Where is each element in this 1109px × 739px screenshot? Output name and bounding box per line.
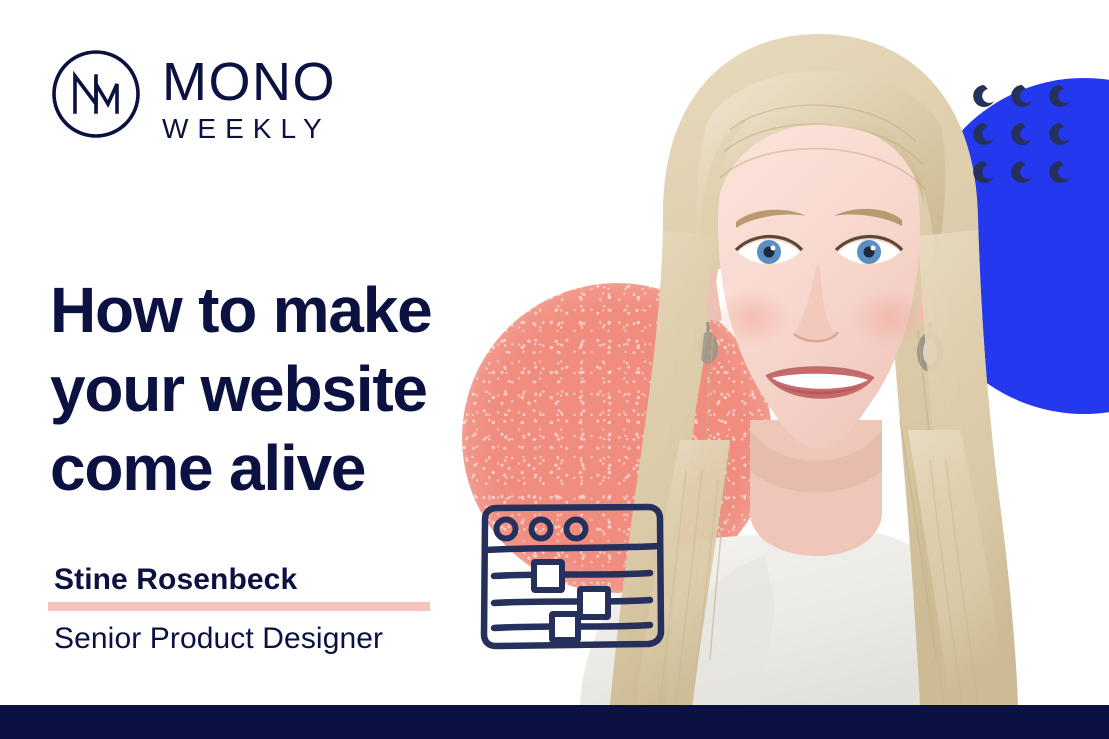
page-title: How to make your website come alive bbox=[50, 271, 570, 508]
webinar-title-slide: MONO WEEKLY How to make your website com… bbox=[0, 0, 1109, 739]
mono-monogram-icon bbox=[50, 48, 142, 140]
brand-wordmark: MONO WEEKLY bbox=[162, 48, 336, 146]
speaker-job-title: Senior Product Designer bbox=[48, 620, 468, 658]
speaker-block: Stine Rosenbeck Senior Product Designer bbox=[48, 562, 468, 658]
speaker-name: Stine Rosenbeck bbox=[48, 562, 468, 598]
browser-sliders-icon bbox=[472, 503, 668, 651]
navy-footer-bar bbox=[0, 705, 1109, 739]
brand-name: MONO bbox=[162, 54, 336, 110]
brand-subtitle: WEEKLY bbox=[162, 112, 336, 146]
speaker-divider-rule bbox=[48, 602, 430, 611]
crescent-dot-grid-pattern bbox=[972, 83, 1080, 191]
brand-logo-lockup[interactable]: MONO WEEKLY bbox=[50, 48, 336, 146]
